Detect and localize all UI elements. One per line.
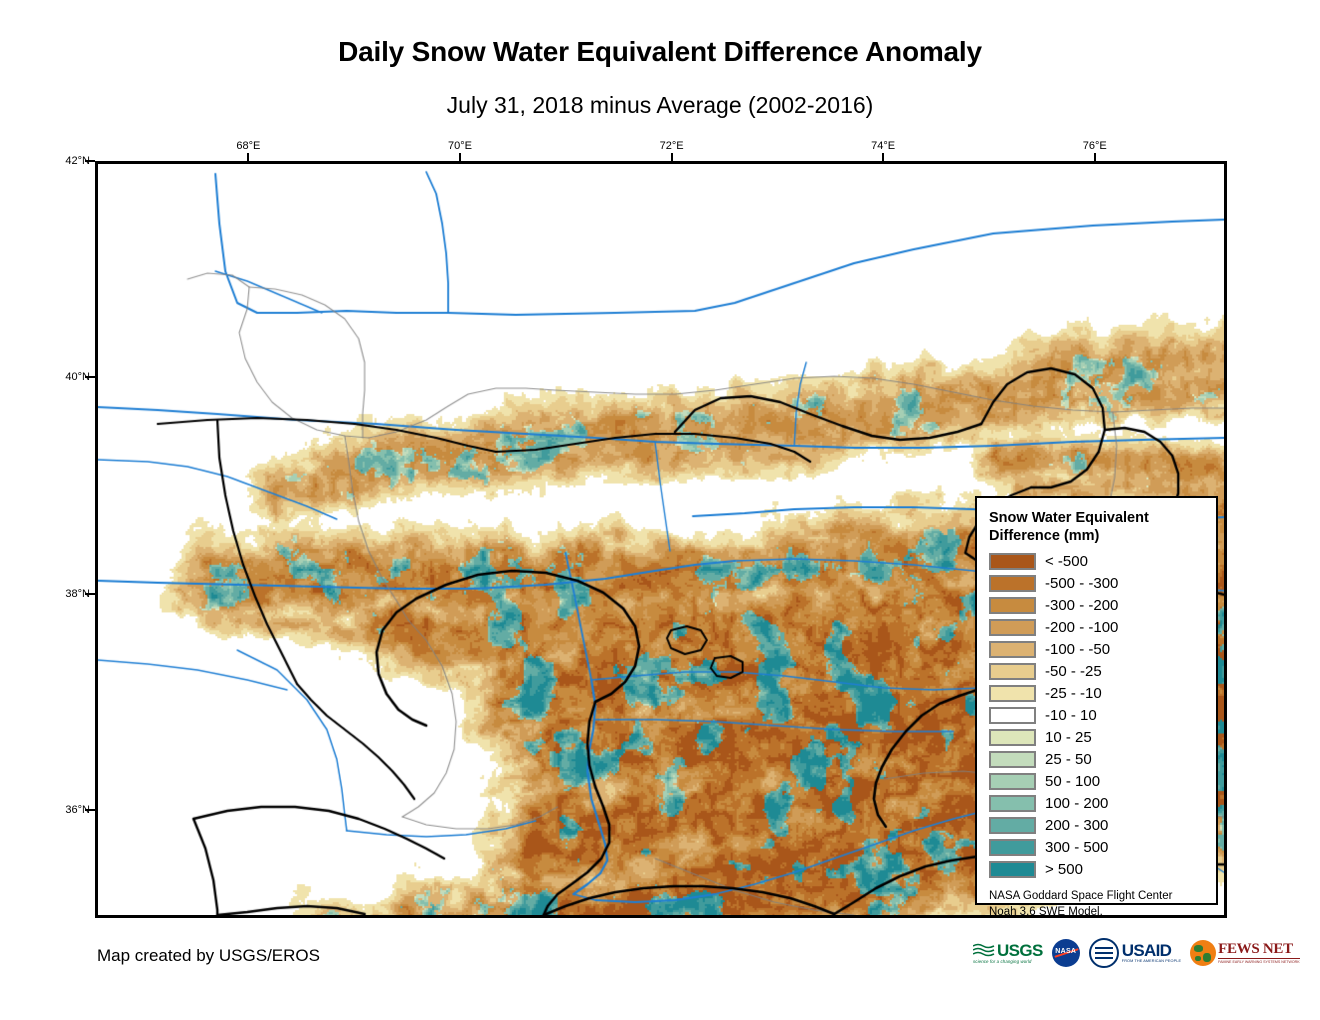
- lon-tick-label: 72°E: [660, 140, 684, 152]
- usgs-logo: USGS science for a changing world: [973, 938, 1043, 968]
- lat-tick-mark: [85, 376, 95, 378]
- usaid-logo: USAID FROM THE AMERICAN PEOPLE: [1089, 938, 1181, 968]
- legend-label: 25 - 50: [1045, 752, 1092, 767]
- lon-tick-mark: [882, 153, 884, 163]
- legend-row: 300 - 500: [989, 836, 1206, 858]
- legend-swatch: [989, 707, 1036, 724]
- page-subtitle: July 31, 2018 minus Average (2002-2016): [0, 92, 1320, 119]
- legend-row: 200 - 300: [989, 814, 1206, 836]
- legend-swatch: [989, 553, 1036, 570]
- legend-row: -25 - -10: [989, 682, 1206, 704]
- legend-label: < -500: [1045, 554, 1088, 569]
- legend-label: 200 - 300: [1045, 818, 1108, 833]
- legend-label: -500 - -300: [1045, 576, 1118, 591]
- map-legend: Snow Water Equivalent Difference (mm) < …: [975, 496, 1218, 905]
- legend-row: 100 - 200: [989, 792, 1206, 814]
- legend-label: -10 - 10: [1045, 708, 1097, 723]
- legend-row: > 500: [989, 858, 1206, 880]
- legend-row: -10 - 10: [989, 704, 1206, 726]
- legend-row: -200 - -100: [989, 616, 1206, 638]
- legend-swatch: [989, 597, 1036, 614]
- lon-tick-mark: [1094, 153, 1096, 163]
- legend-swatch: [989, 795, 1036, 812]
- legend-swatch: [989, 773, 1036, 790]
- legend-class-list: < -500-500 - -300-300 - -200-200 - -100-…: [989, 550, 1206, 880]
- legend-source-note: NASA Goddard Space Flight Center Noah 3.…: [989, 889, 1206, 920]
- legend-swatch: [989, 663, 1036, 680]
- legend-swatch: [989, 729, 1036, 746]
- lat-tick-mark: [85, 593, 95, 595]
- legend-row: -50 - -25: [989, 660, 1206, 682]
- legend-row: 25 - 50: [989, 748, 1206, 770]
- legend-title: Snow Water Equivalent Difference (mm): [989, 510, 1206, 545]
- legend-title-line2: Difference (mm): [989, 528, 1206, 546]
- legend-row: 50 - 100: [989, 770, 1206, 792]
- nasa-logo: NASA: [1052, 938, 1080, 968]
- lat-tick-label: 40°N: [50, 371, 90, 383]
- legend-label: 300 - 500: [1045, 840, 1108, 855]
- usaid-wordmark: USAID: [1122, 942, 1181, 959]
- lon-tick-label: 74°E: [871, 140, 895, 152]
- lon-tick-label: 76°E: [1083, 140, 1107, 152]
- page-title: Daily Snow Water Equivalent Difference A…: [0, 36, 1320, 68]
- lon-tick-label: 68°E: [236, 140, 260, 152]
- legend-label: -200 - -100: [1045, 620, 1118, 635]
- legend-row: -300 - -200: [989, 594, 1206, 616]
- agency-logo-strip: USGS science for a changing world NASA U…: [973, 936, 1300, 970]
- legend-label: 50 - 100: [1045, 774, 1100, 789]
- legend-title-line1: Snow Water Equivalent: [989, 510, 1206, 528]
- lon-tick-mark: [459, 153, 461, 163]
- fewsnet-logo: FEWS NET FAMINE EARLY WARNING SYSTEMS NE…: [1190, 938, 1300, 968]
- legend-swatch: [989, 575, 1036, 592]
- nasa-meatball-icon: NASA: [1052, 939, 1080, 967]
- usaid-tagline: FROM THE AMERICAN PEOPLE: [1122, 960, 1181, 964]
- legend-swatch: [989, 619, 1036, 636]
- legend-label: -50 - -25: [1045, 664, 1102, 679]
- legend-swatch: [989, 839, 1036, 856]
- usaid-seal-icon: [1089, 938, 1119, 968]
- map-credit: Map created by USGS/EROS: [97, 946, 320, 966]
- lon-tick-mark: [247, 153, 249, 163]
- legend-label: -300 - -200: [1045, 598, 1118, 613]
- fewsnet-wordmark: FEWS NET: [1218, 942, 1300, 957]
- legend-swatch: [989, 685, 1036, 702]
- legend-row: -100 - -50: [989, 638, 1206, 660]
- legend-swatch: [989, 751, 1036, 768]
- lat-tick-label: 42°N: [50, 155, 90, 167]
- usgs-wordmark: USGS: [997, 942, 1043, 959]
- legend-label: -25 - -10: [1045, 686, 1102, 701]
- legend-label: > 500: [1045, 862, 1083, 877]
- nasa-wordmark: NASA: [1052, 948, 1080, 955]
- legend-source-line2: Noah 3.6 SWE Model.: [989, 905, 1206, 921]
- fewsnet-globe-icon: [1190, 940, 1216, 966]
- legend-label: 100 - 200: [1045, 796, 1108, 811]
- lat-tick-label: 36°N: [50, 804, 90, 816]
- legend-label: 10 - 25: [1045, 730, 1092, 745]
- legend-source-line1: NASA Goddard Space Flight Center: [989, 889, 1206, 905]
- legend-row: -500 - -300: [989, 572, 1206, 594]
- lat-tick-mark: [85, 160, 95, 162]
- fewsnet-tagline: FAMINE EARLY WARNING SYSTEMS NETWORK: [1218, 961, 1300, 965]
- lat-tick-label: 38°N: [50, 588, 90, 600]
- usgs-tagline: science for a changing world: [973, 960, 1043, 964]
- legend-swatch: [989, 641, 1036, 658]
- lon-tick-mark: [671, 153, 673, 163]
- legend-label: -100 - -50: [1045, 642, 1110, 657]
- legend-row: 10 - 25: [989, 726, 1206, 748]
- lon-tick-label: 70°E: [448, 140, 472, 152]
- legend-swatch: [989, 861, 1036, 878]
- legend-swatch: [989, 817, 1036, 834]
- lat-tick-mark: [85, 809, 95, 811]
- usgs-wave-icon: [973, 943, 995, 958]
- legend-row: < -500: [989, 550, 1206, 572]
